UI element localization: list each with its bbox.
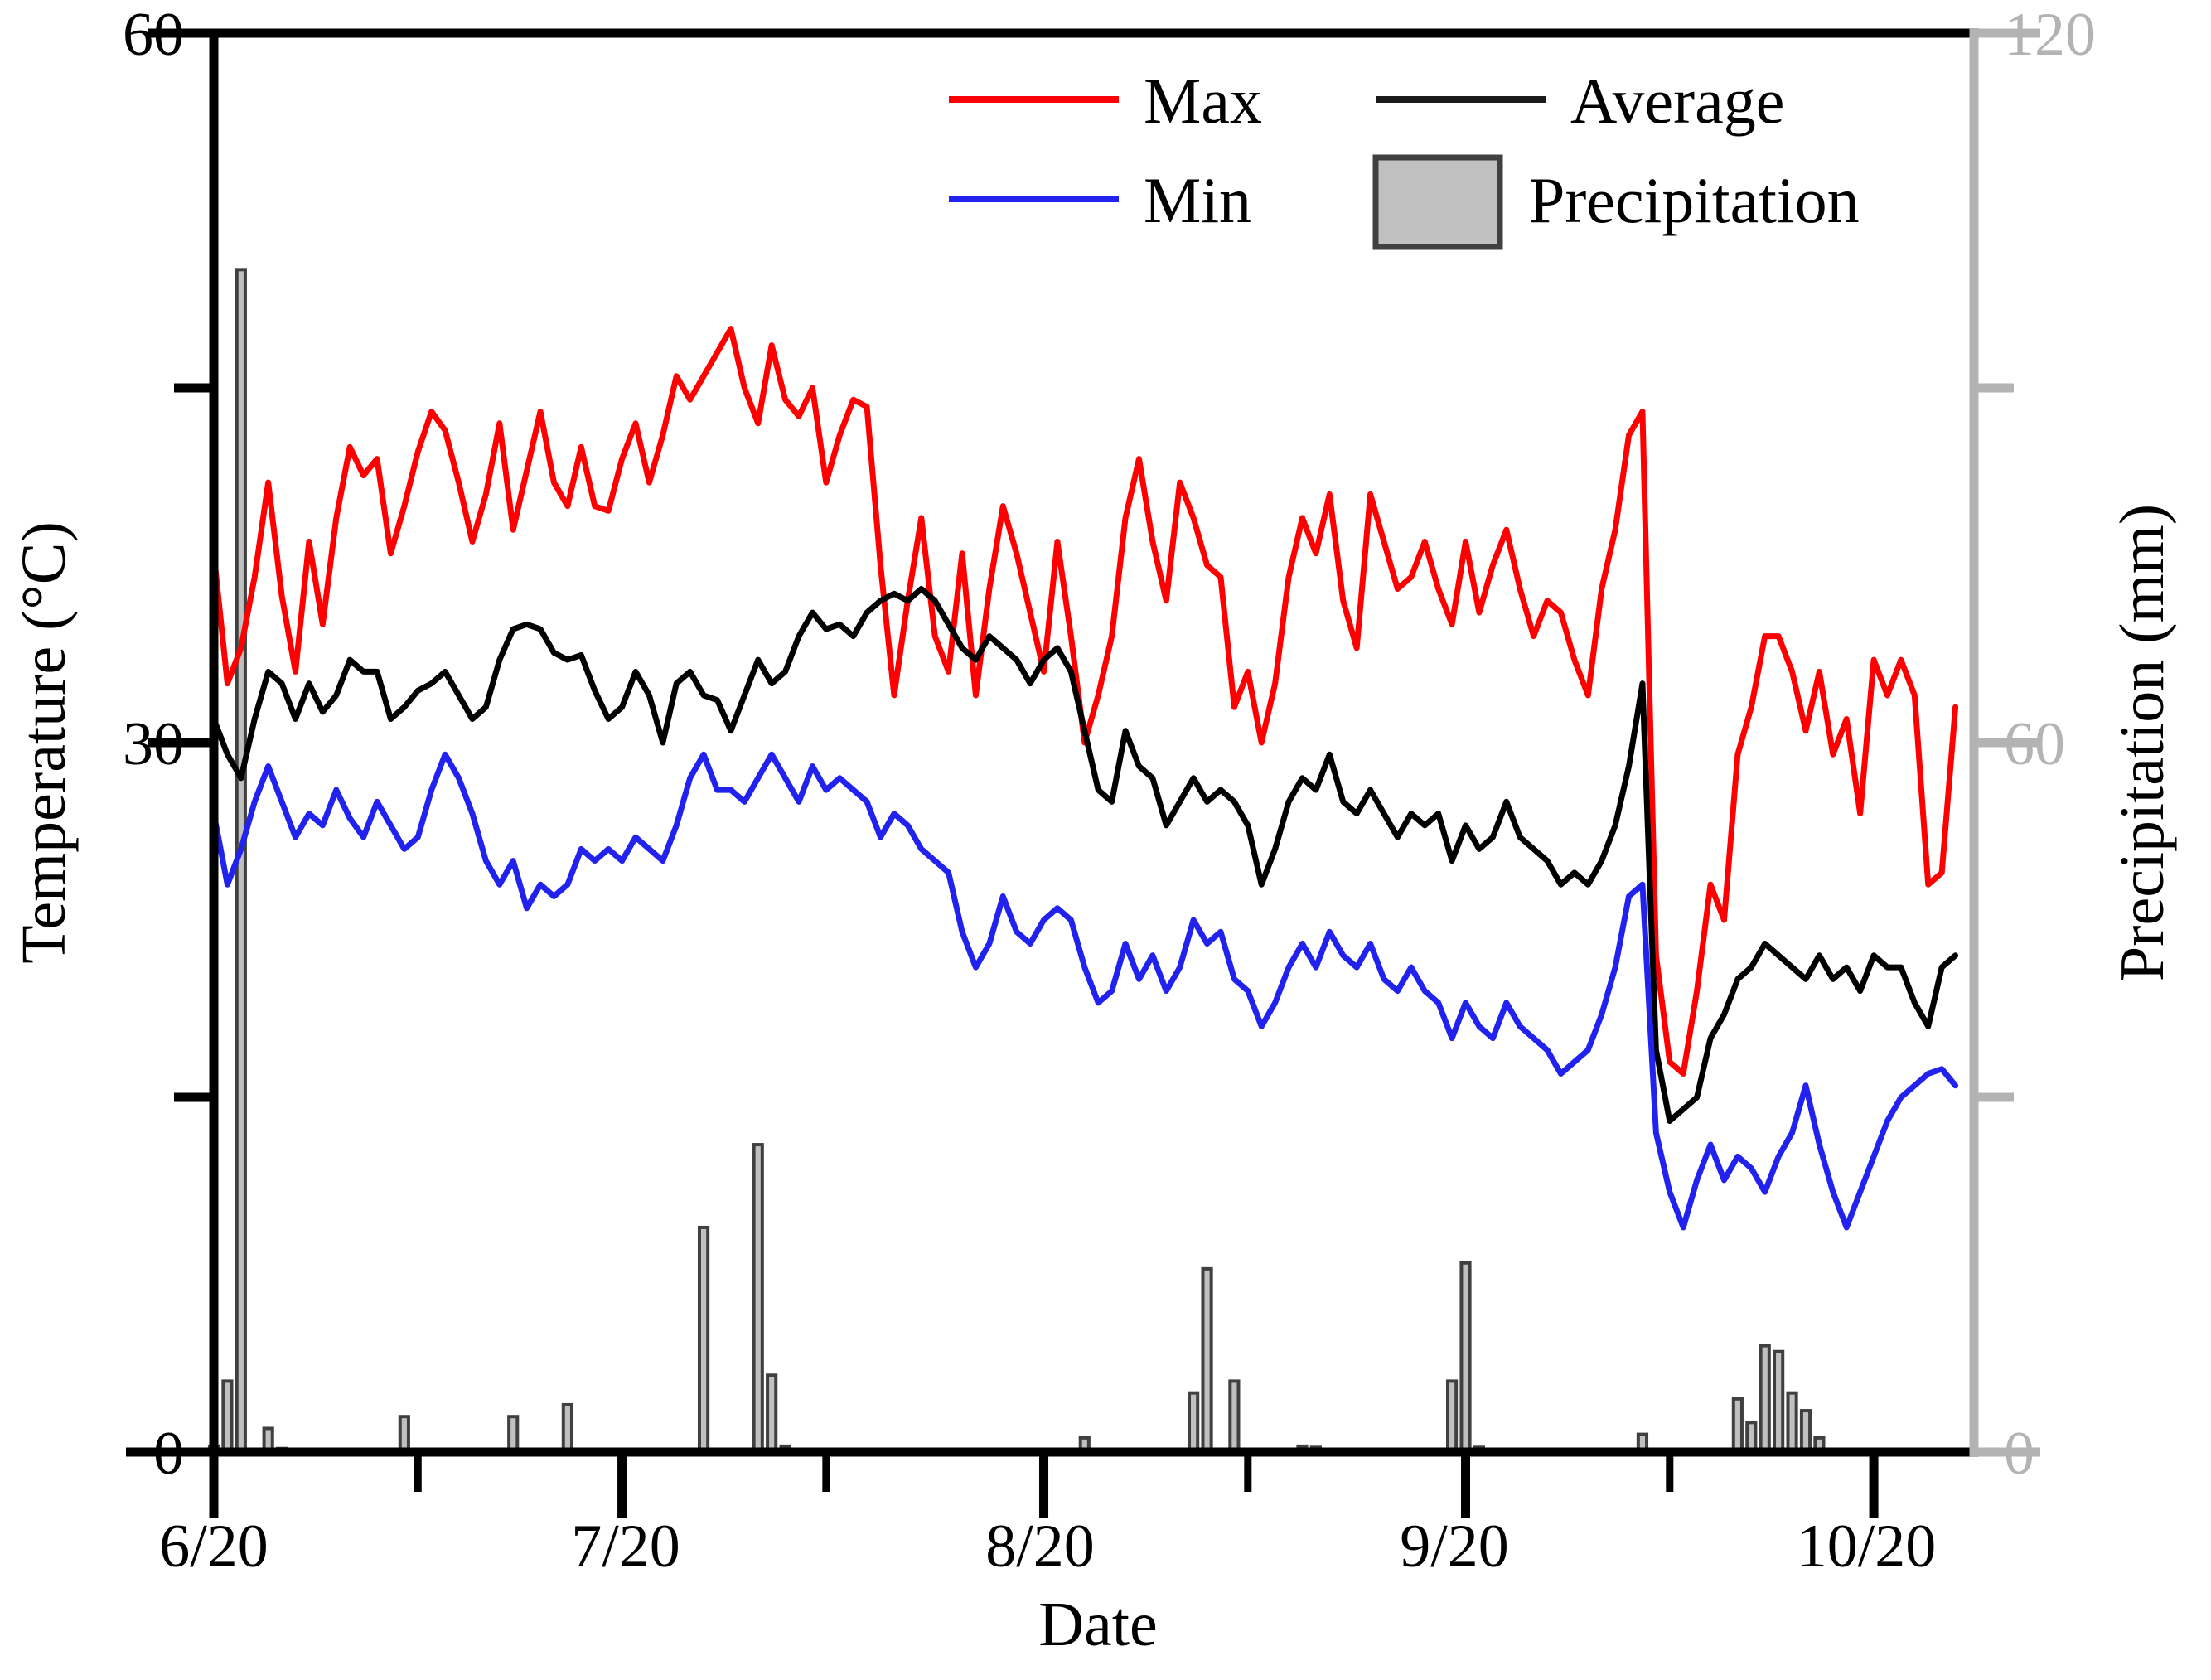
precipitation-bar bbox=[1802, 1411, 1810, 1452]
y-tick-label-30: 30 bbox=[123, 710, 184, 778]
y2-axis-title: Precipitation (mm) bbox=[2107, 504, 2177, 981]
precipitation-bar bbox=[1189, 1393, 1197, 1452]
chart-container: 60 30 0 120 60 0 6/20 7/20 8/20 9/20 10/… bbox=[0, 0, 2211, 1680]
precipitation-bar bbox=[509, 1416, 517, 1452]
x-tick-label-1: 6/20 bbox=[159, 1513, 269, 1581]
y2-tick-label-120: 120 bbox=[2004, 1, 2096, 69]
x-tick-label-5: 10/20 bbox=[1797, 1513, 1937, 1581]
precipitation-bar bbox=[1788, 1393, 1796, 1452]
precipitation-bar bbox=[767, 1375, 776, 1452]
x-tick-label-2: 7/20 bbox=[571, 1513, 680, 1581]
precipitation-bar bbox=[564, 1405, 572, 1452]
precipitation-bar bbox=[1761, 1346, 1769, 1452]
y2-tick-label-60: 60 bbox=[2004, 710, 2065, 778]
weather-chart-svg: 60 30 0 120 60 0 6/20 7/20 8/20 9/20 10/… bbox=[0, 0, 2211, 1680]
precipitation-bar bbox=[1448, 1381, 1456, 1452]
figure-background bbox=[0, 0, 2211, 1680]
precipitation-bar bbox=[1461, 1263, 1469, 1452]
precipitation-bar bbox=[699, 1227, 708, 1452]
legend-label-precipitation: Precipitation bbox=[1529, 164, 1860, 236]
legend-label-average: Average bbox=[1570, 65, 1784, 137]
legend-label-min: Min bbox=[1144, 164, 1251, 236]
precipitation-bar bbox=[1734, 1399, 1742, 1452]
precipitation-bar bbox=[1230, 1381, 1238, 1452]
legend-swatch-precipitation bbox=[1376, 157, 1500, 247]
precipitation-bar bbox=[223, 1381, 231, 1452]
x-axis-title: Date bbox=[1038, 1590, 1157, 1659]
x-tick-label-3: 8/20 bbox=[985, 1513, 1095, 1581]
precipitation-bar bbox=[754, 1145, 762, 1452]
precipitation-bar bbox=[400, 1416, 409, 1452]
x-tick-label-4: 9/20 bbox=[1400, 1513, 1509, 1581]
y-tick-label-0: 0 bbox=[153, 1420, 184, 1488]
y-tick-label-60: 60 bbox=[123, 1, 184, 69]
y-axis-title: Temperature (°C) bbox=[9, 521, 79, 964]
precipitation-bar bbox=[1202, 1269, 1211, 1452]
precipitation-bar bbox=[1774, 1352, 1783, 1452]
legend-label-max: Max bbox=[1144, 65, 1262, 137]
y2-tick-label-0: 0 bbox=[2004, 1420, 2034, 1488]
